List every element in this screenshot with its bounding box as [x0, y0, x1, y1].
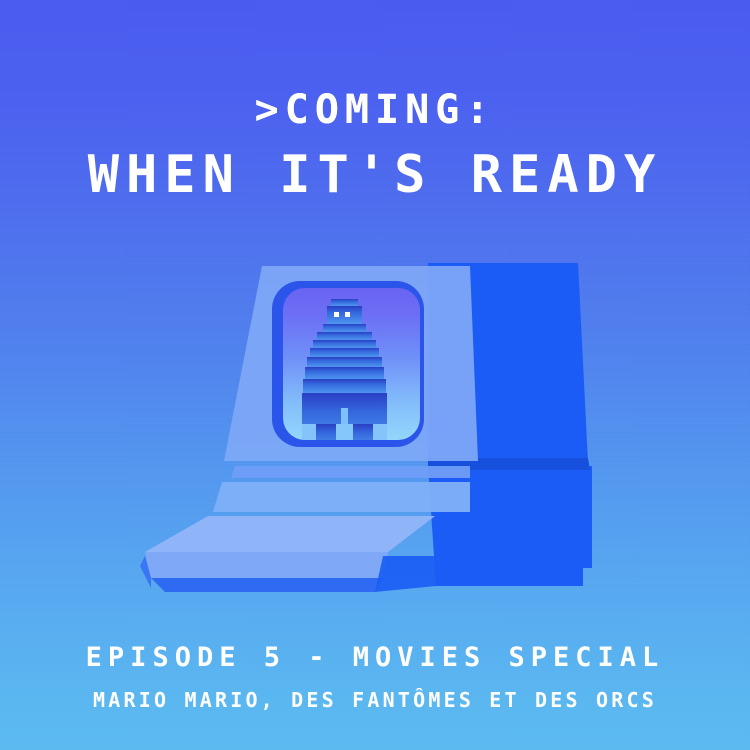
episode-subtitle: MARIO MARIO, DES FANTÔMES ET DES ORCS — [0, 688, 750, 712]
headline-line-2: WHEN IT'S READY — [0, 146, 750, 204]
headline-block: >COMING: WHEN IT'S READY — [0, 88, 750, 204]
base-shadow — [375, 556, 436, 592]
footer-block: EPISODE 5 - MOVIES SPECIAL MARIO MARIO, … — [0, 642, 750, 712]
poster-canvas: >COMING: WHEN IT'S READY EPISODE 5 - MOV… — [0, 0, 750, 750]
episode-title: EPISODE 5 - MOVIES SPECIAL — [0, 642, 750, 674]
headline-line-1: >COMING: — [0, 88, 750, 132]
